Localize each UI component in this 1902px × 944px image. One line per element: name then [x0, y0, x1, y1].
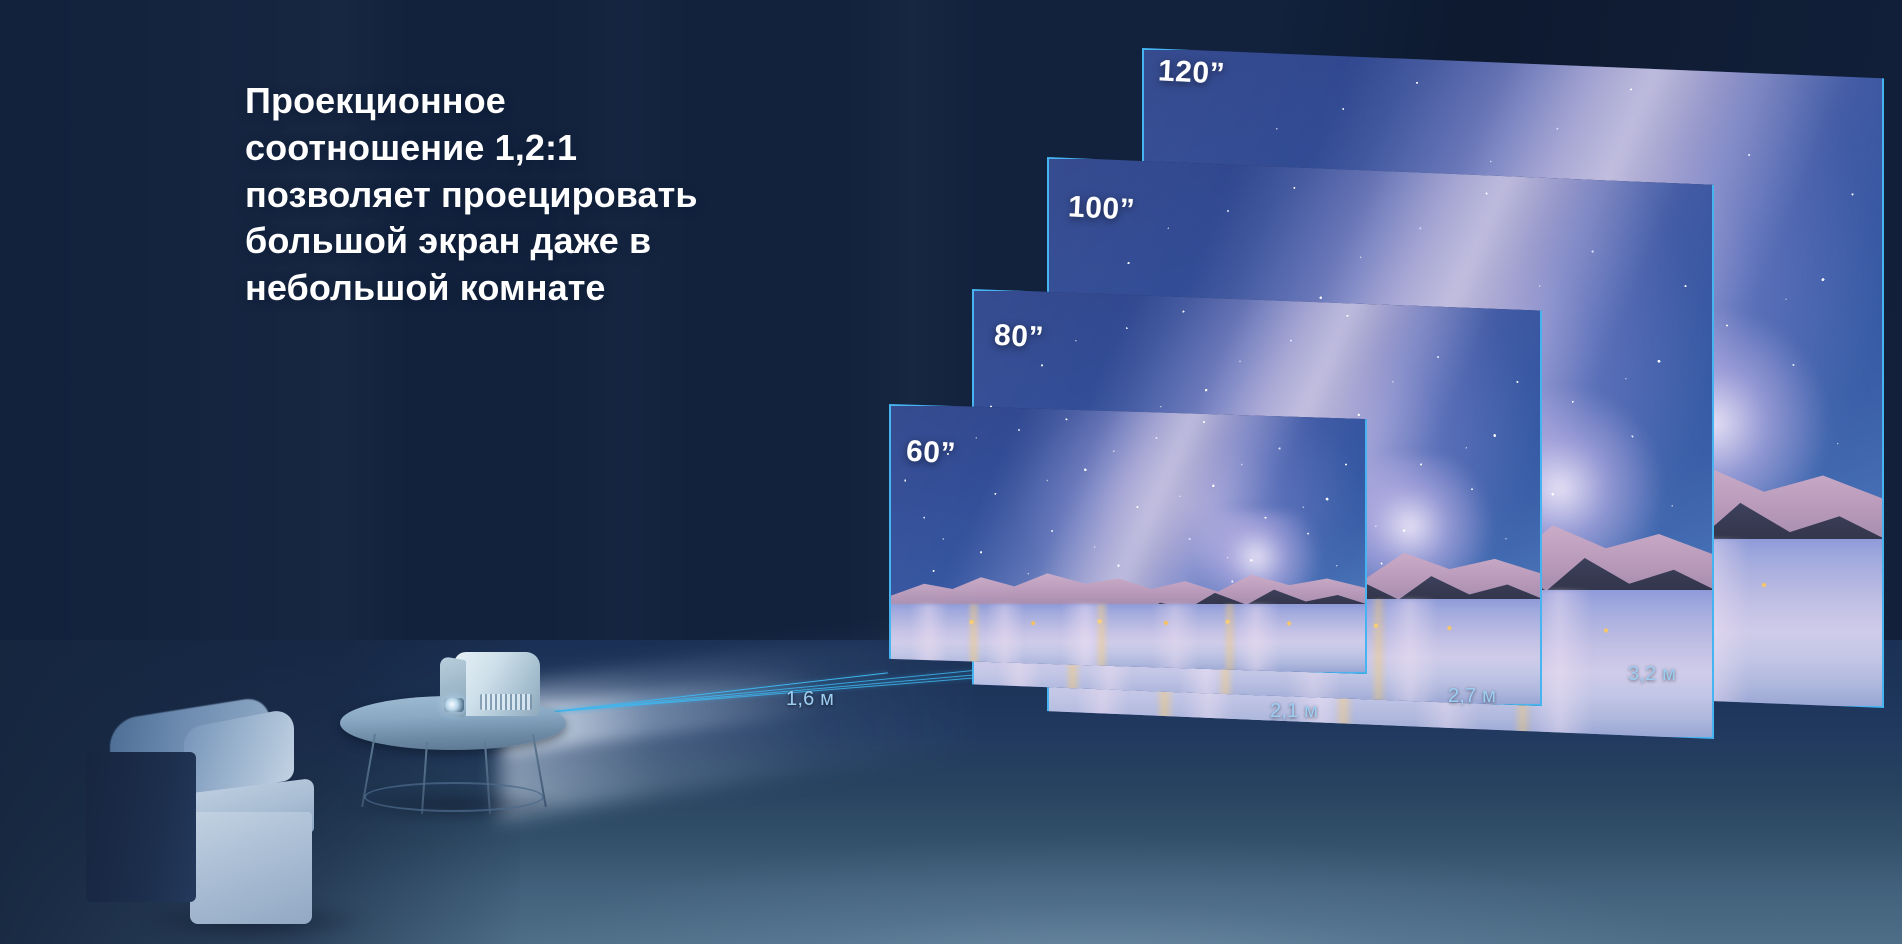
projector	[440, 652, 550, 726]
page-title: Проекционное соотношение 1,2:1 позволяет…	[245, 78, 855, 312]
screen-size-label-60: 60”	[905, 435, 957, 472]
distance-label-60: 1,6 м	[786, 688, 834, 711]
headline-line-4: большой экран даже в	[245, 218, 855, 265]
distance-label-120: 3,2 м	[1628, 663, 1676, 686]
projector-vents	[480, 694, 532, 710]
headline-line-1: Проекционное	[245, 78, 855, 125]
distance-label-80: 2,1 м	[1270, 700, 1318, 723]
screen-size-label-120: 120”	[1157, 54, 1226, 91]
projector-lens	[444, 698, 464, 712]
armchair-front	[190, 812, 312, 924]
headline-line-2: соотношение 1,2:1	[245, 125, 855, 172]
armchair-armrest	[86, 752, 196, 902]
headline-line-3: позволяет проецировать	[245, 172, 855, 219]
screen-size-label-80: 80”	[993, 319, 1045, 356]
headline-line-5: небольшой комнате	[245, 265, 855, 312]
projection-screen-60	[889, 404, 1367, 674]
distance-label-100: 2,7 м	[1448, 685, 1496, 708]
table-base-ring	[364, 782, 544, 812]
screen-size-label-100: 100”	[1067, 190, 1136, 227]
projection-ratio-infographic: 120” 100”	[0, 0, 1902, 944]
armchair	[80, 700, 320, 930]
